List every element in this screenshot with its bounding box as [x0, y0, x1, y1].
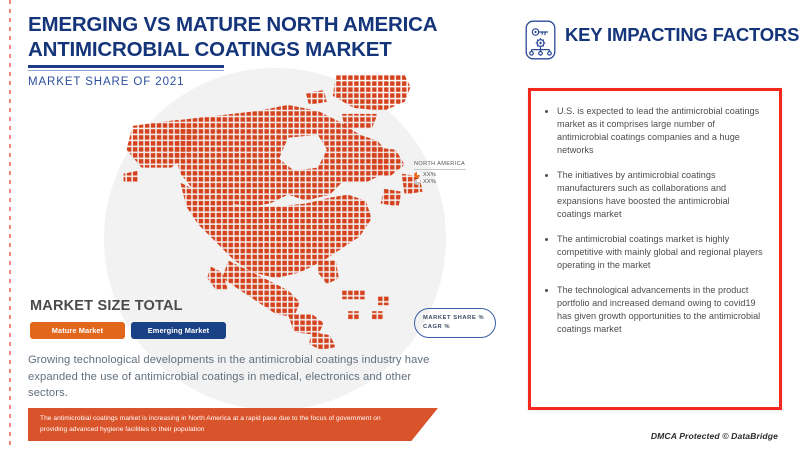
left-panel: EMERGING VS MATURE NORTH AMERICA ANTIMIC…: [0, 0, 505, 450]
map-legend-title: NORTH AMERICA: [414, 161, 504, 167]
highlight-banner-text: The antimicrobial coatings market is inc…: [40, 414, 400, 435]
key-impacting-factors-title: KEY IMPACTING FACTORS: [565, 20, 799, 45]
right-panel: KEY IMPACTING FACTORS U.S. is expected t…: [505, 0, 800, 450]
list-item: The technological advancements in the pr…: [557, 284, 766, 336]
list-item: The antimicrobial coatings market is hig…: [557, 233, 766, 272]
key-impacting-factors-header: KEY IMPACTING FACTORS: [525, 20, 799, 60]
legend-pill-emerging-market: Emerging Market: [131, 322, 226, 339]
orange-pie-icon: [414, 172, 420, 178]
grey-pie-icon: [414, 179, 420, 185]
highlight-banner: The antimicrobial coatings market is inc…: [28, 408, 438, 441]
title-rule-thin: [28, 70, 224, 71]
map-legend-rule: [414, 169, 466, 170]
map-legend-value: XX%: [423, 172, 436, 178]
lead-paragraph: Growing technological developments in th…: [28, 352, 448, 402]
list-item: The initiatives by antimicrobial coating…: [557, 169, 766, 221]
map-legend-row: XX%: [414, 179, 504, 185]
key-impacting-factors-box: U.S. is expected to lead the antimicrobi…: [528, 88, 782, 410]
map-legend-row: XX%: [414, 172, 504, 178]
legend-pill-mature-market: Mature Market: [30, 322, 125, 339]
market-size-total-heading: MARKET SIZE TOTAL: [30, 298, 183, 314]
market-share-cagr-callout: MARKET SHARE % CAGR %: [414, 308, 496, 338]
copyright-footer: DMCA Protected © DataBridge: [651, 431, 778, 441]
map-legend-value: XX%: [423, 179, 436, 185]
list-item: U.S. is expected to lead the antimicrobi…: [557, 105, 766, 157]
key-impacting-factors-list: U.S. is expected to lead the antimicrobi…: [531, 91, 779, 336]
key-gear-network-icon: [525, 20, 556, 60]
map-legend: NORTH AMERICA XX% XX%: [414, 161, 504, 185]
title-rule-thick: [28, 65, 224, 68]
page-title: EMERGING VS MATURE NORTH AMERICA ANTIMIC…: [28, 12, 478, 62]
callout-market-share-label: MARKET SHARE %: [423, 314, 495, 323]
callout-cagr-label: CAGR %: [423, 323, 495, 332]
infographic-page: EMERGING VS MATURE NORTH AMERICA ANTIMIC…: [0, 0, 800, 450]
